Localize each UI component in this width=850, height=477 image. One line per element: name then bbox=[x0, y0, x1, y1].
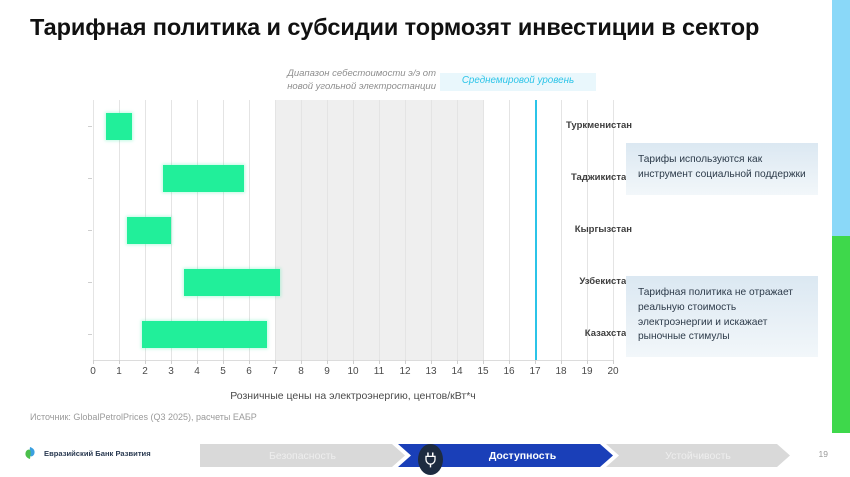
edge-accent-blue bbox=[832, 0, 850, 236]
x-axis-tick-label-14: 14 bbox=[444, 366, 470, 377]
x-axis-tick bbox=[249, 360, 250, 364]
progress-steps: Безопасность Доступность Устойчивость bbox=[200, 444, 790, 467]
world-average-line bbox=[535, 100, 537, 360]
x-axis-tick-label-0: 0 bbox=[80, 366, 106, 377]
footer: Евразийский Банк Развития Безопасность Д… bbox=[0, 433, 850, 477]
bar-1 bbox=[163, 165, 244, 192]
y-axis-label-2: Кыргызстан bbox=[548, 224, 640, 235]
x-axis-title: Розничные цены на электроэнергию, центов… bbox=[93, 390, 613, 402]
x-axis-tick bbox=[327, 360, 328, 364]
x-axis-tick bbox=[379, 360, 380, 364]
x-axis-tick bbox=[405, 360, 406, 364]
x-axis-tick-label-1: 1 bbox=[106, 366, 132, 377]
bar-2 bbox=[127, 217, 171, 244]
x-axis-tick bbox=[483, 360, 484, 364]
x-axis-tick bbox=[223, 360, 224, 364]
x-axis-tick-label-18: 18 bbox=[548, 366, 574, 377]
x-axis-tick-label-16: 16 bbox=[496, 366, 522, 377]
x-axis-tick bbox=[587, 360, 588, 364]
x-axis-tick-label-15: 15 bbox=[470, 366, 496, 377]
bar-4 bbox=[142, 321, 267, 348]
bar-3 bbox=[184, 269, 280, 296]
x-axis-tick-label-11: 11 bbox=[366, 366, 392, 377]
step-ustoychivost[interactable]: Устойчивость bbox=[606, 444, 790, 467]
x-axis-tick-label-20: 20 bbox=[600, 366, 626, 377]
brand-logo: Евразийский Банк Развития bbox=[22, 445, 151, 461]
x-axis-tick-label-17: 17 bbox=[522, 366, 548, 377]
y-axis-label-0: Туркменистан bbox=[548, 120, 640, 131]
x-axis-tick-label-3: 3 bbox=[158, 366, 184, 377]
gridline bbox=[379, 100, 380, 360]
step-bezopasnost[interactable]: Безопасность bbox=[200, 444, 405, 467]
y-axis-tick bbox=[88, 334, 92, 335]
callout-tariffs-social-support: Тарифы используются как инструмент социа… bbox=[626, 143, 818, 195]
step-label: Устойчивость bbox=[665, 450, 731, 462]
gridline bbox=[301, 100, 302, 360]
x-axis-tick bbox=[509, 360, 510, 364]
x-axis-tick bbox=[275, 360, 276, 364]
plot-area bbox=[93, 100, 613, 360]
x-axis-tick-label-19: 19 bbox=[574, 366, 600, 377]
gridline bbox=[275, 100, 276, 360]
eabr-leaf-icon bbox=[22, 445, 38, 461]
x-axis-tick bbox=[353, 360, 354, 364]
x-axis-tick-label-2: 2 bbox=[132, 366, 158, 377]
annotation-cost-band: Диапазон себестоимости э/э от новой угол… bbox=[268, 68, 436, 94]
y-axis-tick bbox=[88, 126, 92, 127]
callout-tariff-policy-distortion: Тарифная политика не отражает реальную с… bbox=[626, 276, 818, 357]
step-label: Безопасность bbox=[269, 450, 336, 462]
x-axis-tick bbox=[93, 360, 94, 364]
page-title: Тарифная политика и субсидии тормозят ин… bbox=[30, 14, 810, 41]
gridline bbox=[353, 100, 354, 360]
gridline bbox=[509, 100, 510, 360]
step-label: Доступность bbox=[455, 450, 556, 462]
gridline bbox=[431, 100, 432, 360]
y-axis-tick bbox=[88, 178, 92, 179]
x-axis-tick-label-4: 4 bbox=[184, 366, 210, 377]
brand-name: Евразийский Банк Развития bbox=[44, 449, 151, 458]
x-axis-tick-label-5: 5 bbox=[210, 366, 236, 377]
x-axis-tick bbox=[613, 360, 614, 364]
x-axis-tick bbox=[145, 360, 146, 364]
x-axis-tick-label-6: 6 bbox=[236, 366, 262, 377]
y-axis-tick bbox=[88, 282, 92, 283]
gridline bbox=[405, 100, 406, 360]
x-axis-tick bbox=[171, 360, 172, 364]
x-axis-tick bbox=[457, 360, 458, 364]
x-axis-tick-label-8: 8 bbox=[288, 366, 314, 377]
x-axis-tick-label-10: 10 bbox=[340, 366, 366, 377]
x-axis-tick-label-13: 13 bbox=[418, 366, 444, 377]
plug-icon bbox=[424, 452, 437, 468]
x-axis-tick bbox=[535, 360, 536, 364]
page-number: 19 bbox=[819, 449, 828, 459]
gridline bbox=[483, 100, 484, 360]
x-axis-tick bbox=[197, 360, 198, 364]
annotation-world-level: Среднемировой уровень bbox=[440, 73, 596, 91]
x-axis-tick bbox=[561, 360, 562, 364]
x-axis-tick-label-12: 12 bbox=[392, 366, 418, 377]
gridline bbox=[327, 100, 328, 360]
gridline bbox=[93, 100, 94, 360]
bar-0 bbox=[106, 113, 132, 140]
y-axis-tick bbox=[88, 230, 92, 231]
x-axis-tick-label-7: 7 bbox=[262, 366, 288, 377]
source-note: Источник: GlobalPetrolPrices (Q3 2025), … bbox=[30, 412, 257, 422]
x-axis-tick bbox=[301, 360, 302, 364]
plug-icon-badge bbox=[418, 444, 443, 475]
chart-container: Диапазон себестоимости э/э от новой угол… bbox=[0, 60, 640, 390]
x-axis-tick bbox=[431, 360, 432, 364]
x-axis-tick-label-9: 9 bbox=[314, 366, 340, 377]
gridline bbox=[457, 100, 458, 360]
x-axis-tick bbox=[119, 360, 120, 364]
